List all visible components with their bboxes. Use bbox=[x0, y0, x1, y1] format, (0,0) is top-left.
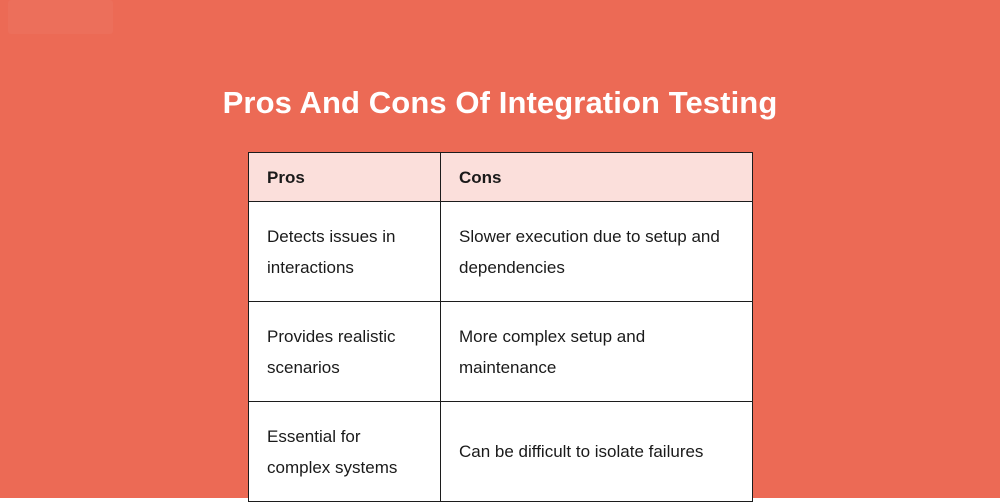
pros-cons-table: Pros Cons Detects issues in interactions… bbox=[248, 152, 753, 502]
slide-canvas: Pros And Cons Of Integration Testing Pro… bbox=[0, 0, 1000, 498]
cell-pros-1: Detects issues in interactions bbox=[249, 202, 441, 302]
table-header-row: Pros Cons bbox=[249, 153, 753, 202]
column-header-cons: Cons bbox=[441, 153, 753, 202]
cell-text: Essential for complex systems bbox=[267, 421, 424, 483]
page-title: Pros And Cons Of Integration Testing bbox=[0, 79, 1000, 127]
cell-cons-1: Slower execution due to setup and depend… bbox=[441, 202, 753, 302]
cell-text: Provides realistic scenarios bbox=[267, 321, 424, 383]
cell-text: Detects issues in interactions bbox=[267, 221, 424, 283]
table-row: Essential for complex systems Can be dif… bbox=[249, 402, 753, 502]
cell-cons-3: Can be difficult to isolate failures bbox=[441, 402, 753, 502]
table-row: Detects issues in interactions Slower ex… bbox=[249, 202, 753, 302]
table-head: Pros Cons bbox=[249, 153, 753, 202]
cell-cons-2: More complex setup and maintenance bbox=[441, 302, 753, 402]
cell-text: More complex setup and maintenance bbox=[459, 321, 736, 383]
cell-pros-3: Essential for complex systems bbox=[249, 402, 441, 502]
corner-watermark-artifact bbox=[8, 0, 113, 34]
pros-cons-table-container: Pros Cons Detects issues in interactions… bbox=[248, 152, 752, 502]
cell-text: Can be difficult to isolate failures bbox=[459, 436, 736, 467]
table-body: Detects issues in interactions Slower ex… bbox=[249, 202, 753, 502]
column-header-pros: Pros bbox=[249, 153, 441, 202]
table-row: Provides realistic scenarios More comple… bbox=[249, 302, 753, 402]
cell-pros-2: Provides realistic scenarios bbox=[249, 302, 441, 402]
cell-text: Slower execution due to setup and depend… bbox=[459, 221, 736, 283]
